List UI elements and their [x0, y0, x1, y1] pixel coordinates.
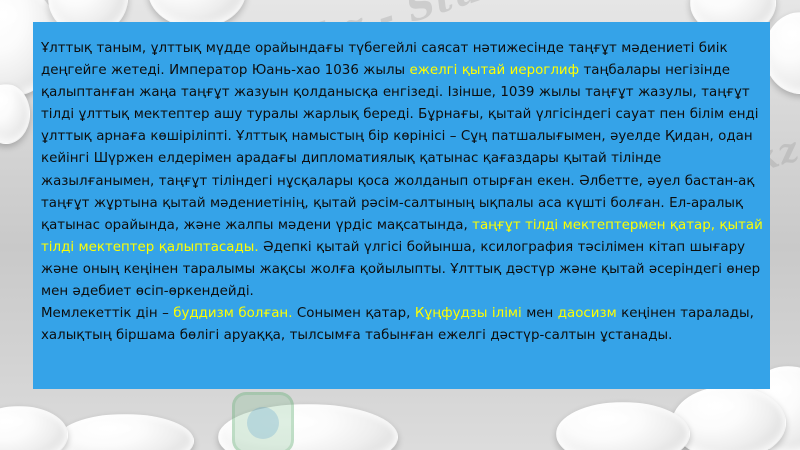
- body-text: Ұлттық таным, ұлттық мүдде орайындағы тү…: [41, 38, 764, 347]
- rich-text-runs-1: Ұлттық таным, ұлттық мүдде орайындағы тү…: [41, 41, 763, 299]
- droplet-decoration: [0, 406, 68, 450]
- paragraph-2: Мемлекеттік дін – буддизм болған. Соныме…: [41, 303, 764, 347]
- highlighted-text-run: буддизм болған.: [173, 306, 292, 321]
- text-run: Сонымен қатар,: [292, 306, 414, 321]
- rich-text-runs-2: Мемлекеттік дін – буддизм болған. Соныме…: [41, 306, 754, 343]
- paragraph-1: Ұлттық таным, ұлттық мүдде орайындағы тү…: [41, 38, 764, 303]
- text-run: Мемлекеттік дін –: [41, 306, 173, 321]
- droplet-decoration: [556, 402, 690, 450]
- text-run: таңбалары негізінде қалыптанған жаңа таң…: [41, 63, 758, 233]
- droplet-decoration: [672, 386, 786, 450]
- slide-canvas: Stud.kz - Stud.kz stud.kz - Stud.kz kz -…: [0, 0, 800, 450]
- highlighted-text-run: даосизм: [558, 306, 617, 321]
- content-textbox[interactable]: Ұлттық таным, ұлттық мүдде орайындағы тү…: [33, 22, 770, 389]
- highlighted-text-run: ежелгі қытай иероглиф: [410, 63, 580, 78]
- watermark-logo-icon: [232, 392, 294, 450]
- droplet-decoration: [56, 414, 194, 450]
- text-run: мен: [522, 306, 558, 321]
- highlighted-text-run: Кұңфудзы ілімі: [415, 306, 522, 321]
